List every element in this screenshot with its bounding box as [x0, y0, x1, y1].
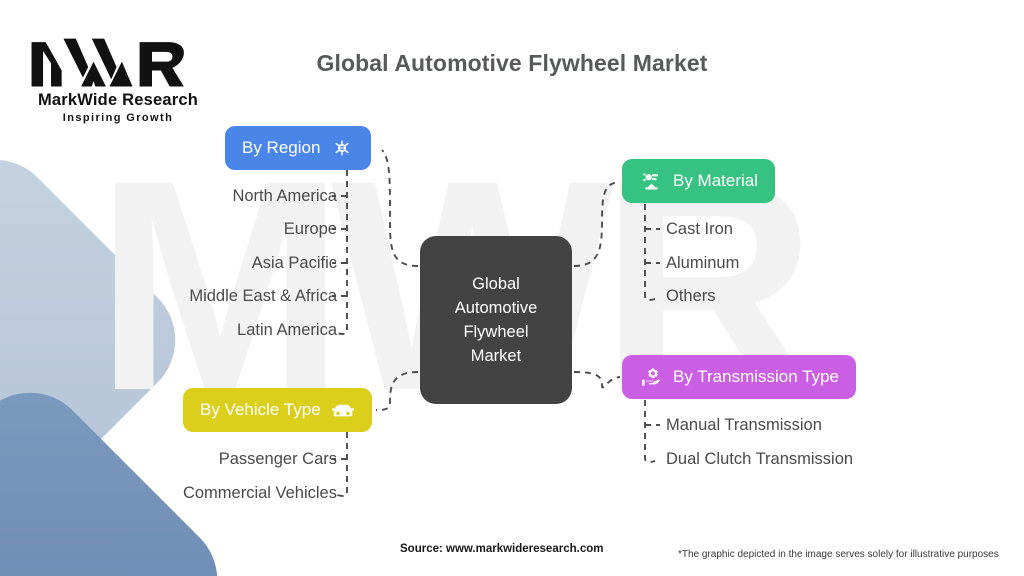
- list-item: Cast Iron: [666, 219, 733, 239]
- disclaimer-text: *The graphic depicted in the image serve…: [678, 549, 999, 560]
- badge-by-region[interactable]: By Region: [225, 126, 371, 170]
- brand-name: MarkWide Research: [28, 91, 208, 110]
- list-item: North America: [137, 186, 337, 206]
- list-item: Manual Transmission: [666, 415, 822, 435]
- infographic-canvas: MWR MarkWide Research Inspiring Growth G…: [0, 0, 1024, 576]
- material-gear-icon: [639, 169, 663, 193]
- center-node-label: Global Automotive Flywheel Market: [455, 272, 538, 368]
- list-item: Passenger Cars: [137, 449, 337, 469]
- source-text: Source: www.markwideresearch.com: [400, 543, 603, 555]
- gear-hand-icon: [639, 365, 663, 389]
- badge-by-region-label: By Region: [242, 138, 320, 158]
- list-item: Middle East & Africa: [137, 286, 337, 306]
- center-line-1: Global: [455, 272, 538, 296]
- list-item: Others: [666, 286, 716, 306]
- center-line-2: Automotive: [455, 296, 538, 320]
- badge-by-vehicle-type[interactable]: By Vehicle Type: [183, 388, 372, 432]
- globe-icon: [330, 136, 354, 160]
- center-line-3: Flywheel: [455, 320, 538, 344]
- badge-by-vehicle-type-label: By Vehicle Type: [200, 400, 321, 420]
- center-node: Global Automotive Flywheel Market: [420, 236, 572, 404]
- badge-by-material-label: By Material: [673, 171, 758, 191]
- list-item: Asia Pacific: [137, 253, 337, 273]
- badge-by-transmission-type[interactable]: By Transmission Type: [622, 355, 856, 399]
- list-item: Commercial Vehicles: [117, 483, 337, 503]
- list-item: Aluminum: [666, 253, 739, 273]
- brand-tagline: Inspiring Growth: [28, 112, 208, 124]
- car-icon: [331, 398, 355, 422]
- list-item: Dual Clutch Transmission: [666, 449, 853, 469]
- center-line-4: Market: [455, 344, 538, 368]
- list-item: Europe: [137, 219, 337, 239]
- list-item: Latin America: [137, 320, 337, 340]
- page-title: Global Automotive Flywheel Market: [0, 50, 1024, 77]
- badge-by-transmission-type-label: By Transmission Type: [673, 367, 839, 387]
- badge-by-material[interactable]: By Material: [622, 159, 775, 203]
